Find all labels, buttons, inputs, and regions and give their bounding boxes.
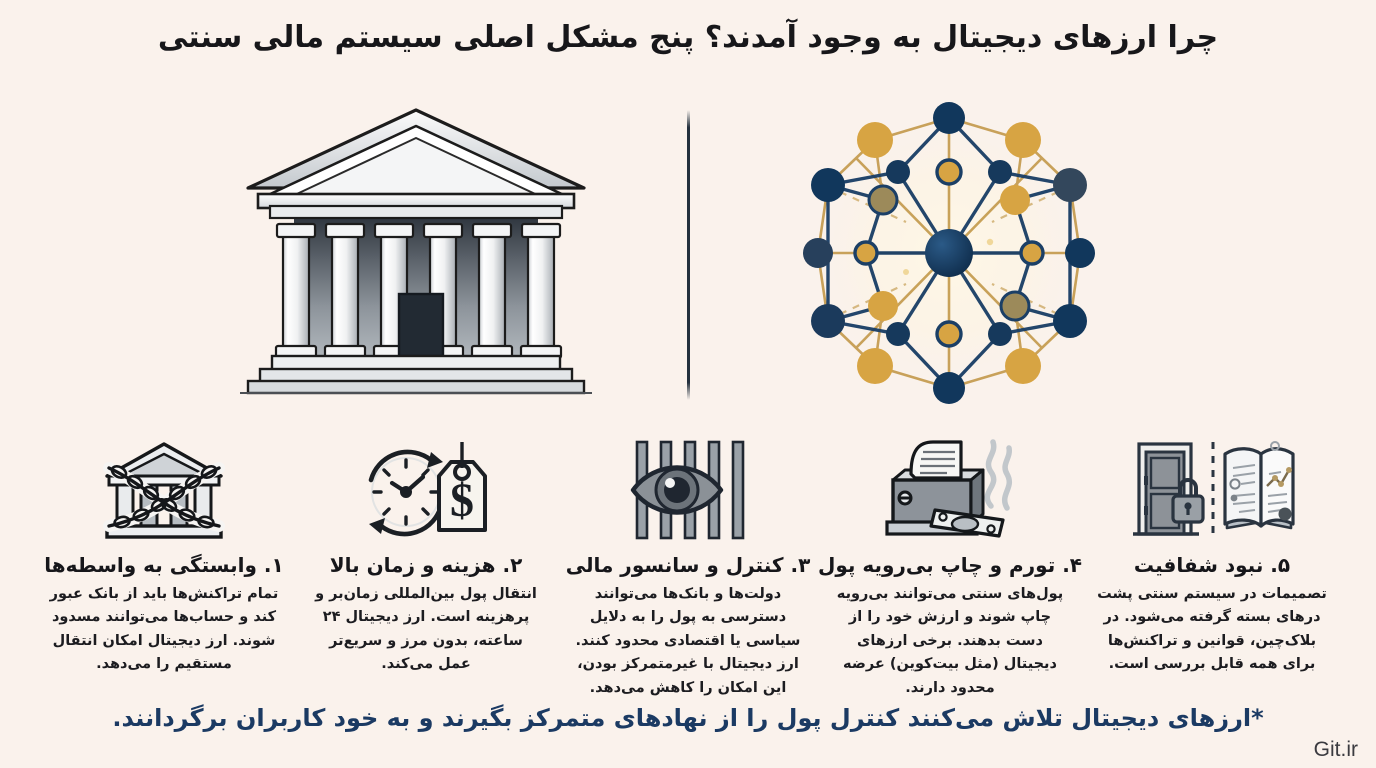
locked-door-and-open-book-icon [1129,420,1295,546]
open-book [1225,442,1293,528]
node-top [933,102,965,134]
node-lower-right [1053,304,1087,338]
price-tag: $ [439,442,485,530]
book-dot [1279,508,1292,521]
problem-heading-1: ۱. وابستگی به واسطه‌ها [44,552,283,578]
node-upper-right [1053,168,1087,202]
problem-column-1: ۱. وابستگی به واسطه‌ها تمام تراکنش‌ها با… [33,420,295,677]
column-2 [325,224,365,358]
node-center [925,229,973,277]
problem-heading-3: ۳. کنترل و سانسور مالی [566,552,811,578]
locked-door [1133,444,1203,534]
node-ring-top [937,160,961,184]
problem-heading-4: ۴. تورم و چاپ بی‌رویه پول [818,552,1082,578]
node-gold-top-left [857,122,893,158]
node-spark-2 [903,269,909,275]
network-illustration [778,100,1120,406]
architrave-bottom [270,206,562,218]
bank-building-illustration [236,96,596,406]
node-ring-right [1021,242,1043,264]
node-spark-1 [987,239,993,245]
column-5 [472,224,512,358]
problem-columns: ۱. وابستگی به واسطه‌ها تمام تراکنش‌ها با… [0,420,1376,700]
problem-column-2: $ ۲. هزینه و زمان بالا انتقال پول بین‌ال… [295,420,557,677]
node-gold-bottom-right [1005,348,1041,384]
book-icon-left-2 [1231,495,1238,502]
problem-heading-5: ۵. نبود شفافیت [1134,552,1290,578]
infographic-canvas: چرا ارزهای دیجیتال به وجود آمدند؟ پنج مش… [0,0,1376,768]
footer-note: *ارزهای دیجیتال تلاش می‌کنند کنترل پول ر… [0,702,1376,734]
node-lower-left [811,304,845,338]
problem-body-5: تصمیمات در سیستم سنتی پشت درهای بسته گرف… [1091,583,1333,677]
clock [369,452,443,534]
problem-column-3: ۳. کنترل و سانسور مالی دولت‌ها و بانک‌ها… [557,420,819,700]
node-gold-mid-left [868,291,898,321]
node-inner-lower-left [886,322,910,346]
money-printing-press-icon [875,420,1025,546]
clock-and-price-tag-icon: $ [351,420,501,546]
node-bottom [933,372,965,404]
node-gold-mid-right [1000,185,1030,215]
watermark: Git.ir [1314,738,1358,762]
problem-column-5: ۵. نبود شفافیت تصمیمات در سیستم سنتی پشت… [1081,420,1343,677]
node-ring-left [855,242,877,264]
problem-body-2: انتقال پول بین‌المللی زمان‌بر و پرهزینه … [305,583,547,677]
smoke [987,442,1009,508]
eye-behind-bars-icon [613,420,763,546]
bank-in-chains-icon [89,420,239,546]
node-inner-upper-left [886,160,910,184]
problem-body-1: تمام تراکنش‌ها باید از بانک عبور کند و ح… [43,583,285,677]
column-6 [521,224,561,358]
building-doorway [399,294,443,356]
page-title: چرا ارزهای دیجیتال به وجود آمدند؟ پنج مش… [0,18,1376,58]
hero-illustrations [0,96,1376,412]
problem-column-4: ۴. تورم و چاپ بی‌رویه پول پول‌های سنتی م… [819,420,1081,700]
node-right [1065,238,1095,268]
step-3 [248,381,584,393]
node-mixed-upper-left [869,186,897,214]
printed-sheet [911,442,961,478]
problem-body-3: دولت‌ها و بانک‌ها می‌توانند دسترسی به پو… [567,583,809,700]
column-1 [276,224,316,358]
node-gold-top-right [1005,122,1041,158]
node-inner-lower-right [988,322,1012,346]
problem-body-4: پول‌های سنتی می‌توانند بی‌رویه چاپ شوند … [829,583,1071,700]
problem-heading-2: ۲. هزینه و زمان بالا [330,552,523,578]
node-gold-bottom-left [857,348,893,384]
node-ring-bottom [937,322,961,346]
node-left [803,238,833,268]
hero-vertical-divider [687,110,690,400]
node-upper-left [811,168,845,202]
node-inner-upper-right [988,160,1012,184]
node-mixed-lower-right [1001,292,1029,320]
dollar-sign: $ [450,474,474,527]
